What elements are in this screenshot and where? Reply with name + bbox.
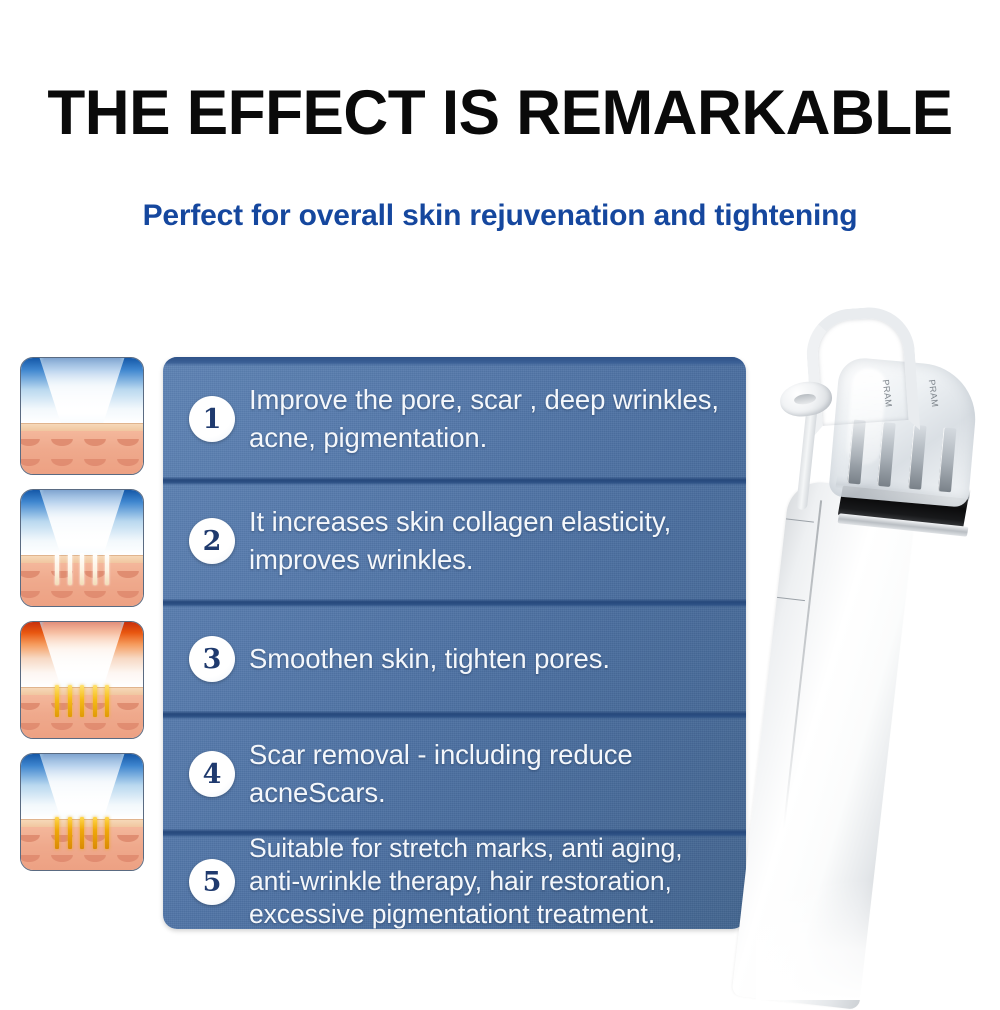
list-item-text: Scar removal - including reduce acneScar… [249, 736, 732, 812]
benefits-panel: 1 Improve the pore, scar , deep wrinkles… [163, 357, 746, 929]
dermis-wave-lower [20, 723, 144, 736]
device-tube [804, 304, 921, 437]
list-item: 5 Suitable for stretch marks, anti aging… [163, 833, 746, 929]
microneedle-array-icon [55, 817, 109, 849]
list-item-text: Smoothen skin, tighten pores. [249, 640, 732, 678]
cartridge-label-right: PRAM [927, 379, 940, 408]
list-item-text: Suitable for stretch marks, anti aging, … [249, 832, 732, 929]
list-item-text: It increases skin collagen elasticity, i… [249, 503, 732, 579]
list-item-number-badge: 3 [189, 636, 235, 682]
page-title: THE EFFECT IS REMARKABLE [8, 78, 993, 148]
benefits-list: 1 Improve the pore, scar , deep wrinkles… [163, 357, 746, 929]
list-item-number-badge: 2 [189, 518, 235, 564]
row-divider [163, 711, 746, 719]
list-item-text: Improve the pore, scar , deep wrinkles, … [249, 381, 732, 457]
skin-diagram-column [20, 357, 144, 885]
list-item: 2 It increases skin collagen elasticity,… [163, 481, 746, 603]
list-item: 3 Smoothen skin, tighten pores. [163, 603, 746, 715]
skin-diagram-contact [20, 357, 144, 475]
skin-diagram-rf-heating [20, 621, 144, 739]
panel-top-edge [163, 357, 746, 366]
microneedle-array-icon [55, 553, 109, 585]
skin-diagram-deep-penetration [20, 753, 144, 871]
microneedle-array-icon [55, 685, 109, 717]
product-device-image: PRAM PRAM [756, 296, 1000, 1000]
list-item: 4 Scar removal - including reduce acneSc… [163, 715, 746, 833]
page-subtitle: Perfect for overall skin rejuvenation an… [0, 196, 1000, 236]
list-item: 1 Improve the pore, scar , deep wrinkles… [163, 357, 746, 481]
row-divider [163, 477, 746, 485]
dermis-wave-lower [20, 855, 144, 868]
skin-diagram-shallow-penetration [20, 489, 144, 607]
dermis-wave-lower [20, 591, 144, 604]
list-item-number-badge: 5 [189, 859, 235, 905]
device-bottom-fade [756, 880, 1000, 1000]
row-divider [163, 599, 746, 607]
list-item-number-badge: 4 [189, 751, 235, 797]
dermis-wave-lower [20, 459, 144, 472]
list-item-number-badge: 1 [189, 396, 235, 442]
dermis-wave-upper [20, 439, 144, 452]
